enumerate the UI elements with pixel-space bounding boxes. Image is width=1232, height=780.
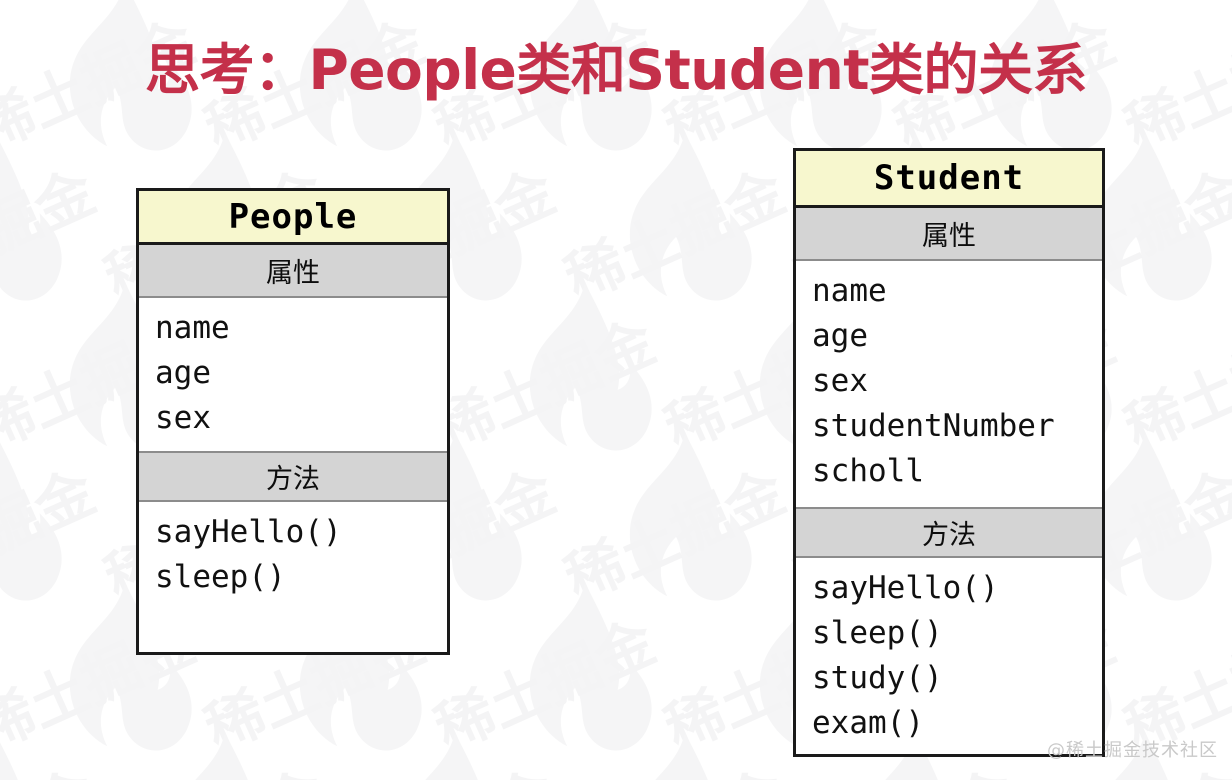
flame-icon bbox=[150, 730, 300, 780]
watermark-text: 稀土掘金 bbox=[550, 0, 796, 17]
flame-icon bbox=[510, 580, 660, 770]
flame-icon bbox=[610, 730, 760, 780]
methods-list: sayHello()sleep()study()exam() bbox=[796, 558, 1102, 754]
list-item: age bbox=[155, 351, 447, 396]
list-item: sleep() bbox=[155, 555, 447, 600]
list-item: sex bbox=[812, 359, 1102, 404]
flame-icon bbox=[610, 130, 760, 320]
watermark-text: 稀土掘金 bbox=[0, 146, 106, 317]
methods-section-label: 方法 bbox=[139, 451, 447, 502]
list-item: name bbox=[155, 306, 447, 351]
watermark-text: 稀土掘金 bbox=[320, 746, 566, 780]
watermark-text: 稀土掘金 bbox=[320, 0, 566, 17]
list-item: studentNumber bbox=[812, 404, 1102, 449]
flame-icon bbox=[0, 430, 70, 620]
attributes-list: nameagesex bbox=[139, 298, 447, 451]
list-item: study() bbox=[812, 656, 1102, 701]
flame-icon bbox=[510, 280, 660, 470]
watermark-text: 稀土掘金 bbox=[420, 596, 666, 767]
uml-class-student[interactable]: Student 属性 nameagesexstudentNumberscholl… bbox=[793, 148, 1105, 757]
watermark-text: 稀土掘金 bbox=[550, 746, 796, 780]
watermark-text: 稀土掘金 bbox=[550, 146, 796, 317]
class-name-header: People bbox=[139, 191, 447, 245]
watermark-text: 稀土掘金 bbox=[90, 746, 336, 780]
corner-watermark: @稀土掘金技术社区 bbox=[1047, 736, 1218, 762]
slide-canvas: 稀土掘金稀土掘金稀土掘金稀土掘金稀土掘金稀土掘金稀土掘金稀土掘金稀土掘金稀土掘金… bbox=[0, 0, 1232, 780]
attributes-section-label: 属性 bbox=[796, 208, 1102, 261]
list-item: sayHello() bbox=[812, 566, 1102, 611]
list-item: name bbox=[812, 269, 1102, 314]
list-item: sex bbox=[155, 396, 447, 441]
watermark-text: 稀土掘金 bbox=[0, 746, 106, 780]
flame-icon bbox=[610, 430, 760, 620]
list-item: scholl bbox=[812, 449, 1102, 494]
attributes-section-label: 属性 bbox=[139, 245, 447, 298]
watermark-text: 稀土掘金 bbox=[550, 446, 796, 617]
uml-class-people[interactable]: People 属性 nameagesex 方法 sayHello()sleep(… bbox=[136, 188, 450, 655]
list-item: age bbox=[812, 314, 1102, 359]
attributes-list: nameagesexstudentNumberscholl bbox=[796, 261, 1102, 507]
watermark-text: 稀土掘金 bbox=[780, 0, 1026, 17]
flame-icon bbox=[380, 730, 530, 780]
watermark-text: 稀土掘金 bbox=[0, 0, 106, 17]
methods-list: sayHello()sleep() bbox=[139, 502, 447, 652]
list-item: sayHello() bbox=[155, 510, 447, 555]
watermark-text: 稀土掘金 bbox=[90, 0, 336, 17]
watermark-text: 稀土掘金 bbox=[420, 296, 666, 467]
class-name-header: Student bbox=[796, 151, 1102, 208]
methods-section-label: 方法 bbox=[796, 507, 1102, 558]
list-item: sleep() bbox=[812, 611, 1102, 656]
watermark-text: 稀土掘金 bbox=[1110, 296, 1232, 467]
flame-icon bbox=[0, 130, 70, 320]
flame-icon bbox=[0, 730, 70, 780]
page-title: 思考：People类和Student类的关系 bbox=[0, 34, 1232, 106]
watermark-text: 稀土掘金 bbox=[0, 446, 106, 617]
watermark-text: 稀土掘金 bbox=[1010, 0, 1232, 17]
